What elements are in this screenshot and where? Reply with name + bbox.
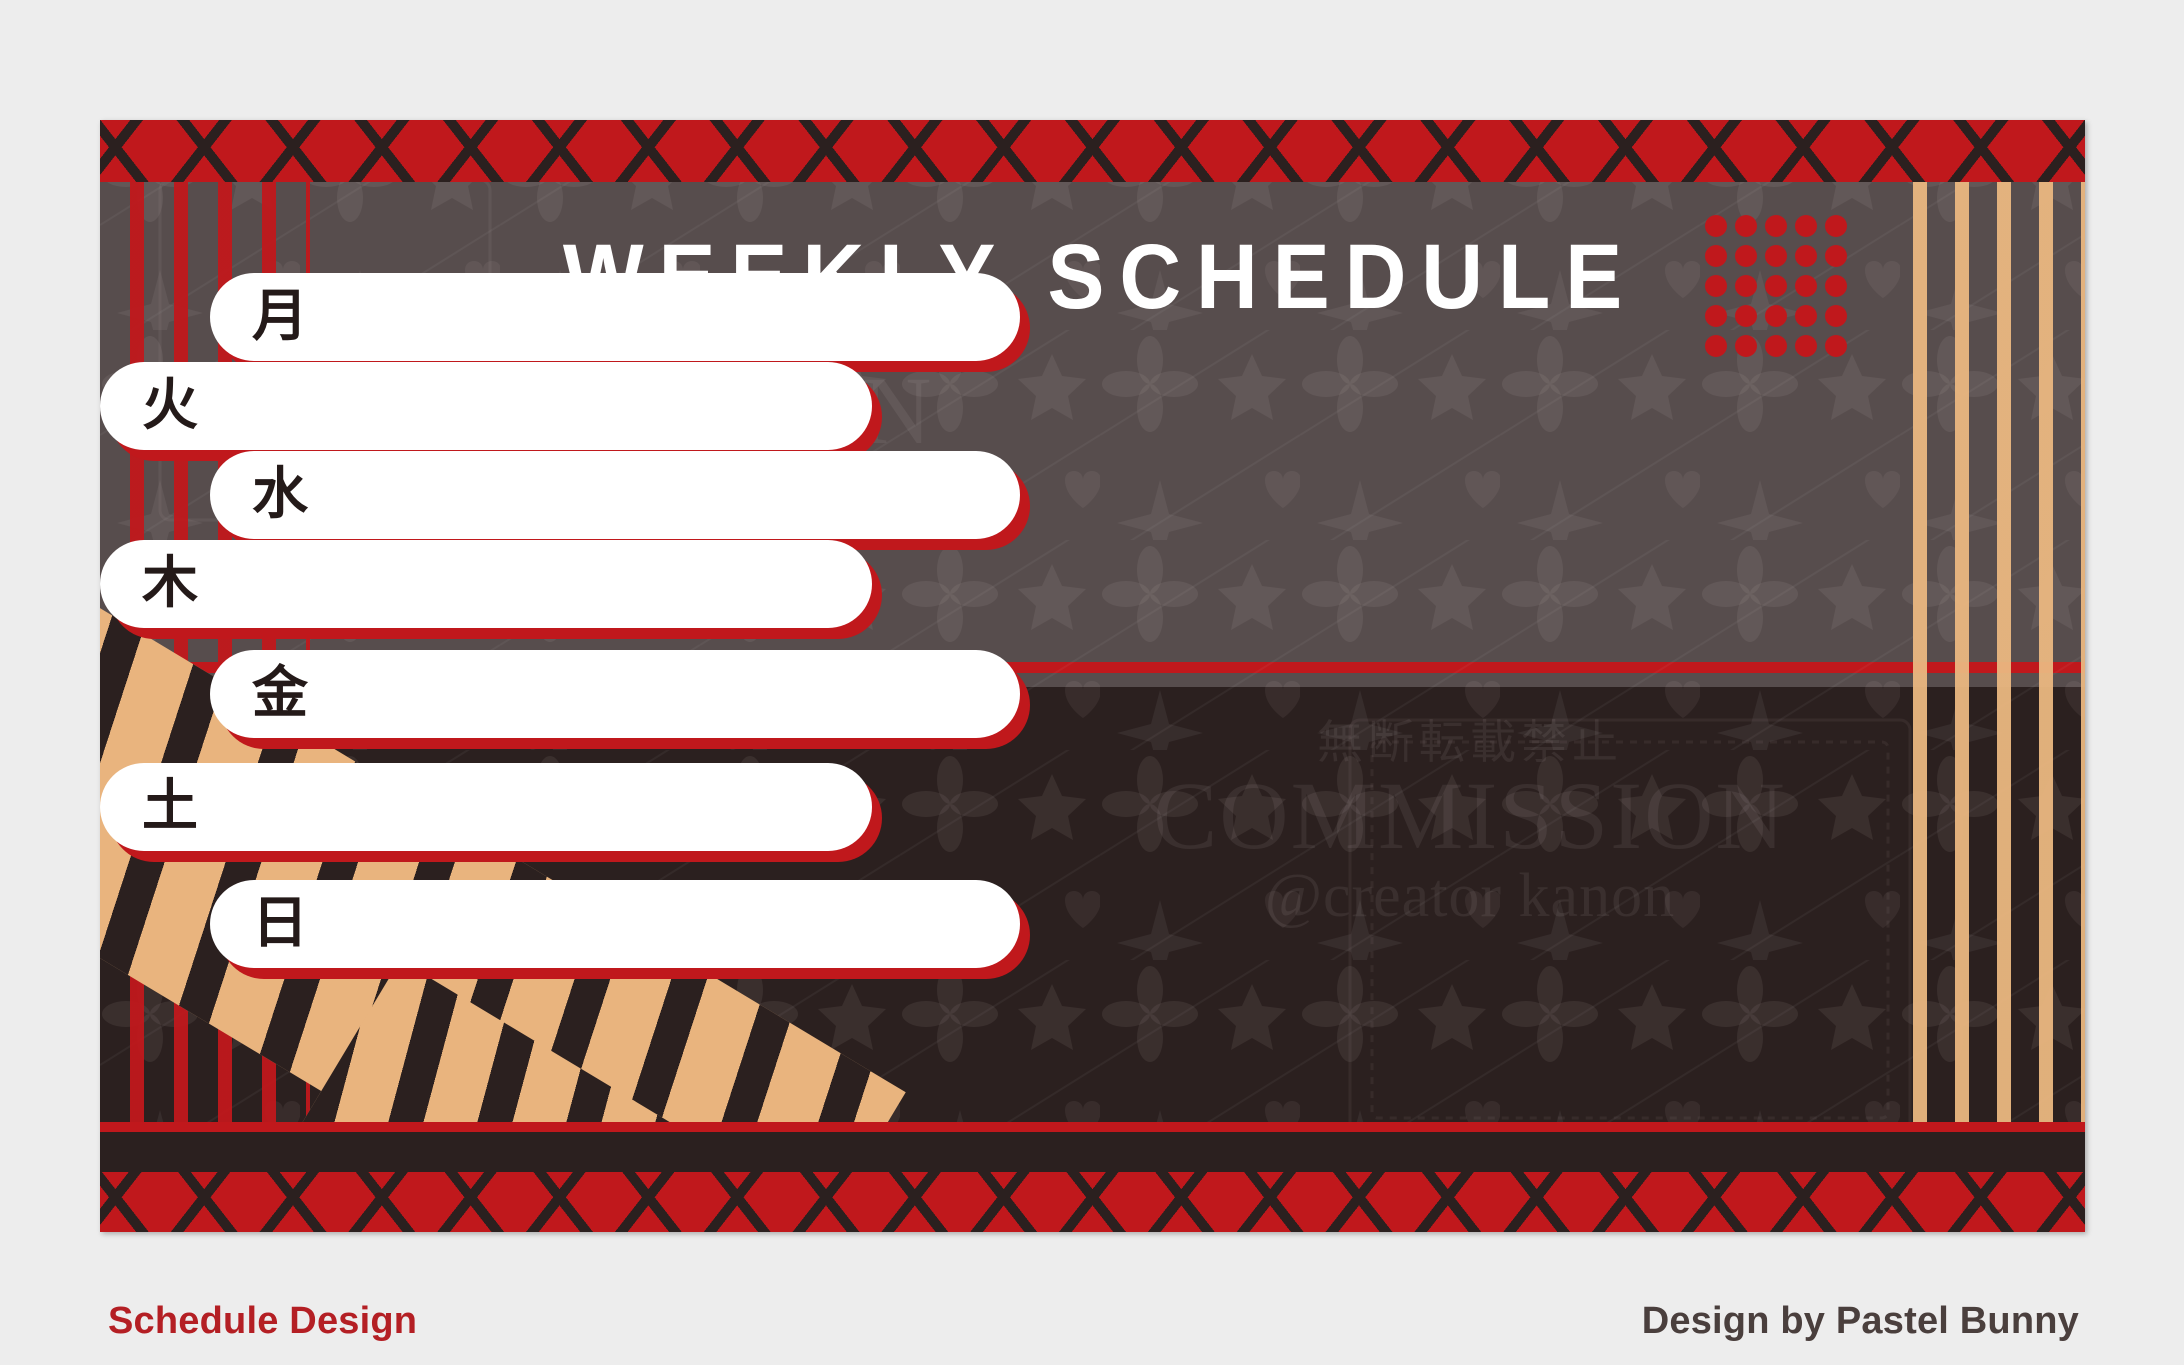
- day-entry-field-wednesday[interactable]: 水: [210, 451, 1020, 539]
- day-rows: 月 火 水 木: [100, 120, 2085, 1232]
- bottom-red-rule: [100, 1122, 2085, 1132]
- day-row-sunday[interactable]: 日: [210, 880, 1020, 968]
- day-row-wednesday[interactable]: 水: [210, 451, 1020, 539]
- day-entry-field-thursday[interactable]: 木: [100, 540, 872, 628]
- day-label-tuesday: 火: [100, 378, 198, 434]
- day-row-friday[interactable]: 金: [210, 650, 1020, 738]
- footer-right-caption: Design by Pastel Bunny: [1642, 1300, 2079, 1343]
- day-entry-field-monday[interactable]: 月: [210, 273, 1020, 361]
- weekly-schedule-card: 無断転載禁止 COMMISSION @creator kanon 無断転載禁止 …: [100, 120, 2085, 1232]
- day-entry-field-saturday[interactable]: 土: [100, 763, 872, 851]
- day-label-saturday: 土: [100, 779, 198, 835]
- day-label-sunday: 日: [210, 896, 308, 952]
- footer-left-caption: Schedule Design: [108, 1300, 417, 1343]
- day-label-thursday: 木: [100, 556, 198, 612]
- day-label-wednesday: 水: [210, 467, 308, 523]
- day-entry-field-friday[interactable]: 金: [210, 650, 1020, 738]
- bottom-border-pattern: [100, 1172, 2085, 1232]
- day-entry-field-sunday[interactable]: 日: [210, 880, 1020, 968]
- page-root: 無断転載禁止 COMMISSION @creator kanon 無断転載禁止 …: [0, 0, 2184, 1365]
- day-row-thursday[interactable]: 木: [100, 540, 872, 628]
- top-border-pattern: [100, 120, 2085, 182]
- bottom-dark-band: [100, 1132, 2085, 1172]
- day-label-friday: 金: [210, 666, 308, 722]
- day-label-monday: 月: [210, 289, 308, 345]
- day-row-monday[interactable]: 月: [210, 273, 1020, 361]
- day-entry-field-tuesday[interactable]: 火: [100, 362, 872, 450]
- day-row-saturday[interactable]: 土: [100, 763, 872, 851]
- day-row-tuesday[interactable]: 火: [100, 362, 872, 450]
